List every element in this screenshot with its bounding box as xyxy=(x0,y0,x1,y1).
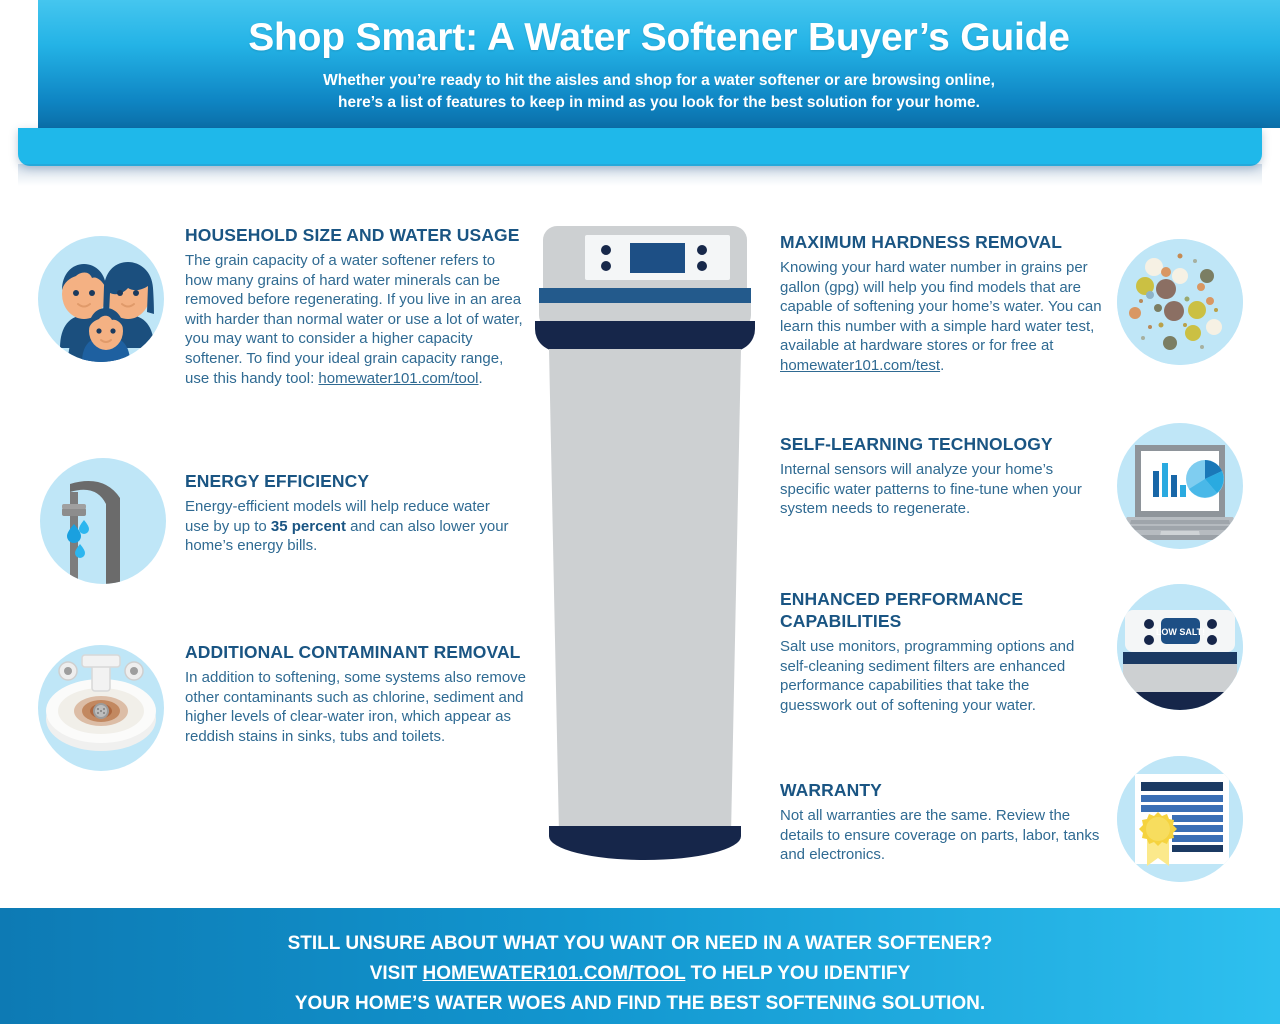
section-body: In addition to softening, some systems a… xyxy=(185,668,530,746)
section-body: Knowing your hard water number in grains… xyxy=(780,258,1110,376)
section-title: HOUSEHOLD SIZE AND WATER USAGE xyxy=(185,224,525,246)
section-body: Not all warranties are the same. Review … xyxy=(780,806,1100,865)
unit-button-top-left[interactable] xyxy=(601,245,611,255)
minerals-particles-icon xyxy=(1117,239,1243,365)
page-title: Shop Smart: A Water Softener Buyer’s Gui… xyxy=(38,16,1280,60)
section-link[interactable]: homewater101.com/test xyxy=(780,357,940,374)
section-emphasis: 35 percent xyxy=(271,518,346,535)
unit-control-panel[interactable] xyxy=(585,235,730,280)
unit-lid xyxy=(543,226,747,288)
header-ribbon-shadow xyxy=(18,164,1262,186)
header-subtitle: Whether you’re ready to hit the aisles a… xyxy=(38,70,1280,114)
section-body: Internal sensors will analyze your home’… xyxy=(780,460,1100,519)
water-softener-unit xyxy=(535,226,755,876)
unit-button-top-right[interactable] xyxy=(697,245,707,255)
unit-button-bottom-left[interactable] xyxy=(601,261,611,271)
section-body-text: Knowing your hard water number in grains… xyxy=(780,259,1102,354)
section-body: Energy-efficient models will help reduce… xyxy=(185,497,515,556)
section-title: ADDITIONAL CONTAMINANT REMOVAL xyxy=(185,641,530,663)
section-title: SELF-LEARNING TECHNOLOGY xyxy=(780,433,1100,455)
section-body-tail: . xyxy=(940,357,944,374)
footer-line-1: STILL UNSURE ABOUT WHAT YOU WANT OR NEED… xyxy=(0,930,1280,958)
header-ribbon xyxy=(18,128,1262,166)
laptop-analytics-icon xyxy=(1117,423,1243,549)
section-text: HOUSEHOLD SIZE AND WATER USAGE The grain… xyxy=(185,224,525,388)
unit-display-screen xyxy=(630,243,685,273)
section-text: ENHANCED PERFORMANCE CAPABILITIES Salt u… xyxy=(780,588,1105,715)
section-text: MAXIMUM HARDNESS REMOVAL Knowing your ha… xyxy=(780,231,1110,376)
section-title: MAXIMUM HARDNESS REMOVAL xyxy=(780,231,1110,253)
unit-button-bottom-right[interactable] xyxy=(697,261,707,271)
faucet-drip-icon xyxy=(40,458,166,584)
unit-accent-stripe xyxy=(539,288,751,303)
warranty-certificate-icon xyxy=(1117,756,1243,882)
section-title: ENERGY EFFICIENCY xyxy=(185,470,515,492)
section-text: SELF-LEARNING TECHNOLOGY Internal sensor… xyxy=(780,433,1100,519)
footer-cta-banner: STILL UNSURE ABOUT WHAT YOU WANT OR NEED… xyxy=(0,908,1280,1024)
low-salt-display-icon: LOW SALT! xyxy=(1117,584,1243,710)
section-text: ADDITIONAL CONTAMINANT REMOVAL In additi… xyxy=(185,641,530,746)
section-text: WARRANTY Not all warranties are the same… xyxy=(780,779,1100,865)
section-title: ENHANCED PERFORMANCE CAPABILITIES xyxy=(780,588,1105,632)
family-icon xyxy=(38,236,164,362)
infographic-page: Shop Smart: A Water Softener Buyer’s Gui… xyxy=(0,0,1280,1024)
section-body-tail: . xyxy=(479,370,483,387)
section-body: The grain capacity of a water softener r… xyxy=(185,251,525,388)
unit-tank-body xyxy=(545,349,745,834)
svg-text:LOW SALT!: LOW SALT! xyxy=(1156,627,1205,637)
footer-line-2-after: TO HELP YOU IDENTIFY xyxy=(685,963,910,984)
header-subtitle-line2: here’s a list of features to keep in min… xyxy=(38,92,1280,114)
footer-line-3: YOUR HOME’S WATER WOES AND FIND THE BEST… xyxy=(0,990,1280,1018)
footer-line-2: VISIT HOMEWATER101.COM/TOOL TO HELP YOU … xyxy=(0,960,1280,988)
section-link[interactable]: homewater101.com/tool xyxy=(318,370,478,387)
content-area: HOUSEHOLD SIZE AND WATER USAGE The grain… xyxy=(0,186,1280,906)
section-title: WARRANTY xyxy=(780,779,1100,801)
unit-base xyxy=(549,826,741,860)
unit-navy-band xyxy=(535,321,755,351)
footer-line-2-before: VISIT xyxy=(370,963,423,984)
section-text: ENERGY EFFICIENCY Energy-efficient model… xyxy=(185,470,515,556)
section-body: Salt use monitors, programming options a… xyxy=(780,637,1105,715)
section-body-text: The grain capacity of a water softener r… xyxy=(185,252,523,387)
footer-cta-link[interactable]: HOMEWATER101.COM/TOOL xyxy=(423,963,686,984)
stained-sink-icon xyxy=(38,645,164,771)
header-subtitle-line1: Whether you’re ready to hit the aisles a… xyxy=(38,70,1280,92)
header-banner: Shop Smart: A Water Softener Buyer’s Gui… xyxy=(38,0,1280,128)
